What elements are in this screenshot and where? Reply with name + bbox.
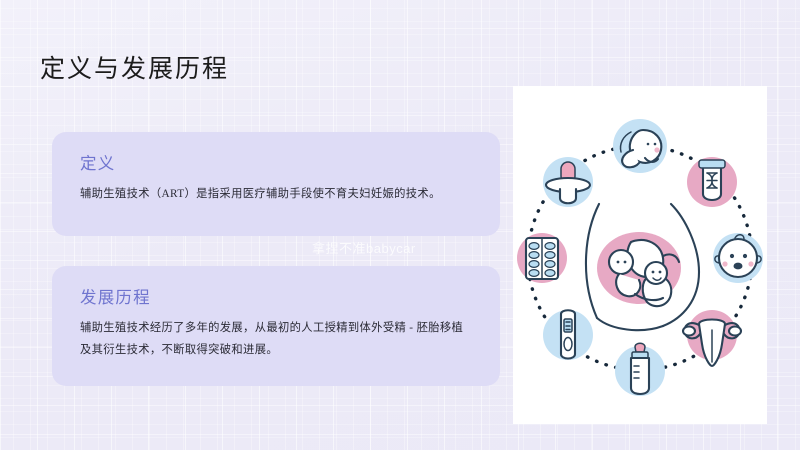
pacifier-icon <box>543 157 593 207</box>
card-history: 发展历程 辅助生殖技术经历了多年的发展，从最初的人工授精到体外受精 - 胚胎移植… <box>52 266 500 386</box>
fetus-icon <box>613 119 667 173</box>
slide-canvas: 定义与发展历程 定义 辅助生殖技术（ART）是指采用医疗辅助手段使不育夫妇妊娠的… <box>0 0 800 450</box>
dna-test-tube-icon <box>687 157 737 207</box>
card-definition: 定义 辅助生殖技术（ART）是指采用医疗辅助手段使不育夫妇妊娠的技术。 <box>52 132 500 236</box>
card-history-body: 辅助生殖技术经历了多年的发展，从最初的人工授精到体外受精 - 胚胎移植及其衍生技… <box>80 317 474 361</box>
pregnancy-test-icon <box>543 310 593 360</box>
card-definition-heading: 定义 <box>80 150 474 174</box>
card-history-heading: 发展历程 <box>80 284 474 308</box>
pill-blister-icon <box>517 233 567 283</box>
watermark: 拿捏不准babycar <box>312 238 416 257</box>
illustration-panel: .ln { fill:none; stroke:#2b4257; stroke-… <box>513 86 767 424</box>
baby-face-icon <box>713 233 763 283</box>
card-definition-body: 辅助生殖技术（ART）是指采用医疗辅助手段使不育夫妇妊娠的技术。 <box>80 183 474 205</box>
fertility-illustration: .ln { fill:none; stroke:#2b4257; stroke-… <box>513 86 767 424</box>
page-title: 定义与发展历程 <box>40 49 229 85</box>
